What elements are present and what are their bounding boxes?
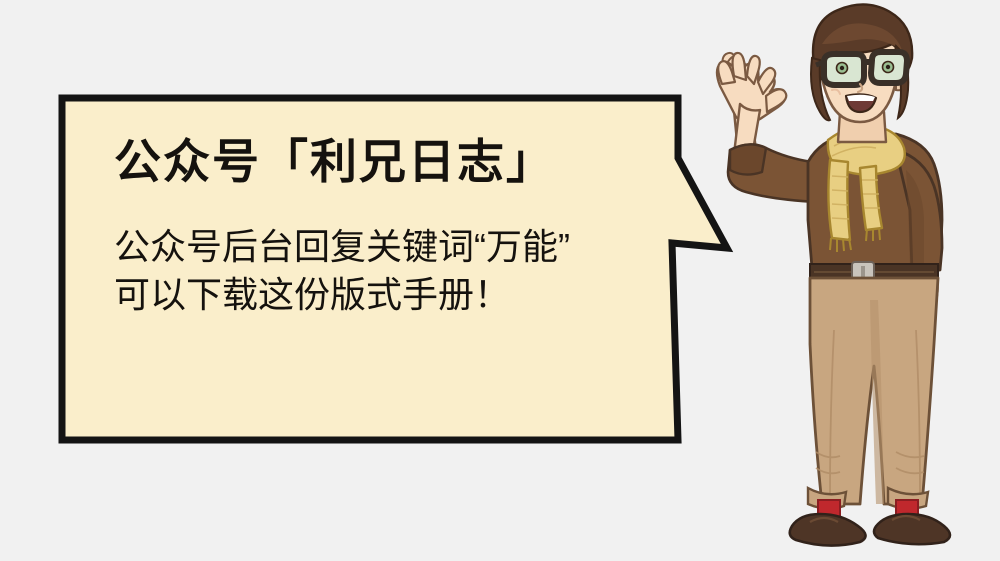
pants bbox=[808, 278, 938, 509]
promo-banner: 公众号「利兄日志」 公众号后台回复关键词“万能” 可以下载这份版式手册！ bbox=[0, 0, 1000, 561]
cartoon-character bbox=[700, 0, 1000, 561]
shoe-right bbox=[874, 514, 950, 544]
bubble-body: 公众号后台回复关键词“万能” 可以下载这份版式手册！ bbox=[114, 223, 652, 320]
bubble-title: 公众号「利兄日志」 bbox=[114, 136, 652, 189]
raised-arm bbox=[717, 53, 818, 202]
finger-2 bbox=[733, 53, 746, 80]
head bbox=[811, 4, 912, 142]
bubble-body-line-2: 可以下载这份版式手册！ bbox=[114, 271, 652, 320]
speech-bubble-content: 公众号「利兄日志」 公众号后台回复关键词“万能” 可以下载这份版式手册！ bbox=[62, 98, 678, 440]
glasses-temple bbox=[816, 62, 824, 65]
pupil-left bbox=[840, 66, 844, 70]
scarf-tail-left bbox=[828, 160, 850, 240]
sleeve-cuff bbox=[730, 144, 766, 174]
pupil-right bbox=[886, 65, 890, 69]
belt-buckle-prong bbox=[861, 266, 865, 278]
bubble-body-line-1: 公众号后台回复关键词“万能” bbox=[114, 223, 652, 272]
